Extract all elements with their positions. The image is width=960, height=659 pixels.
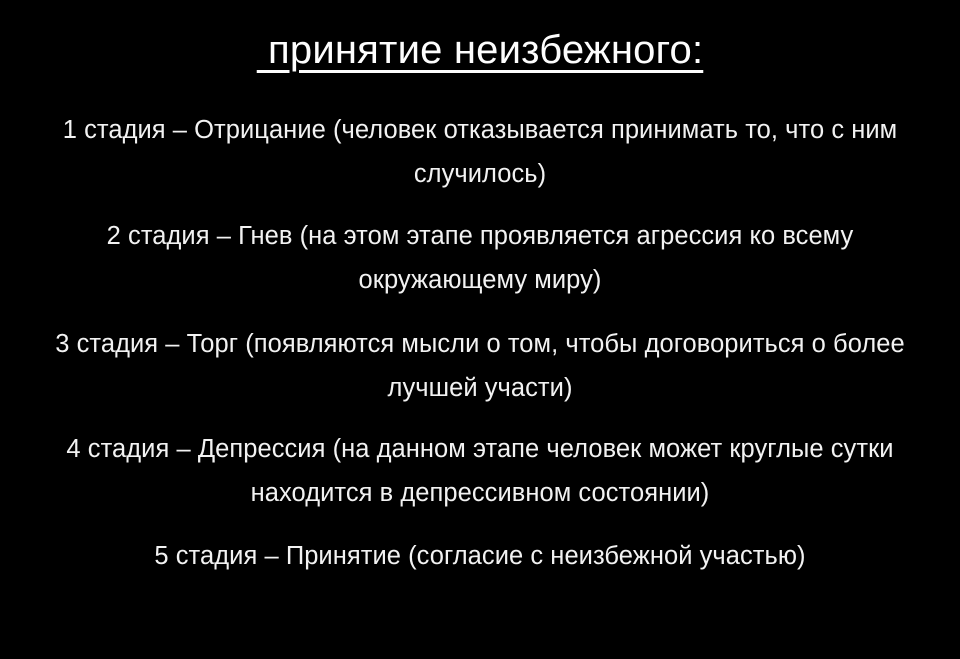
page-title: принятие неизбежного: [0,26,960,74]
stage-list: 1 стадия – Отрицание (человек отказывает… [22,108,938,578]
stage-item-2: 2 стадия – Гнев (на этом этапе проявляет… [22,214,938,302]
page-title-text: принятие неизбежного: [257,28,704,72]
stage-item-1: 1 стадия – Отрицание (человек отказывает… [22,108,938,196]
presentation-slide: принятие неизбежного: 1 стадия – Отрицан… [0,0,960,659]
stage-item-4: 4 стадия – Депрессия (на данном этапе че… [22,427,938,515]
stage-item-3: 3 стадия – Торг (появляются мысли о том,… [22,322,938,410]
stage-item-5: 5 стадия – Принятие (согласие с неизбежн… [22,534,938,578]
